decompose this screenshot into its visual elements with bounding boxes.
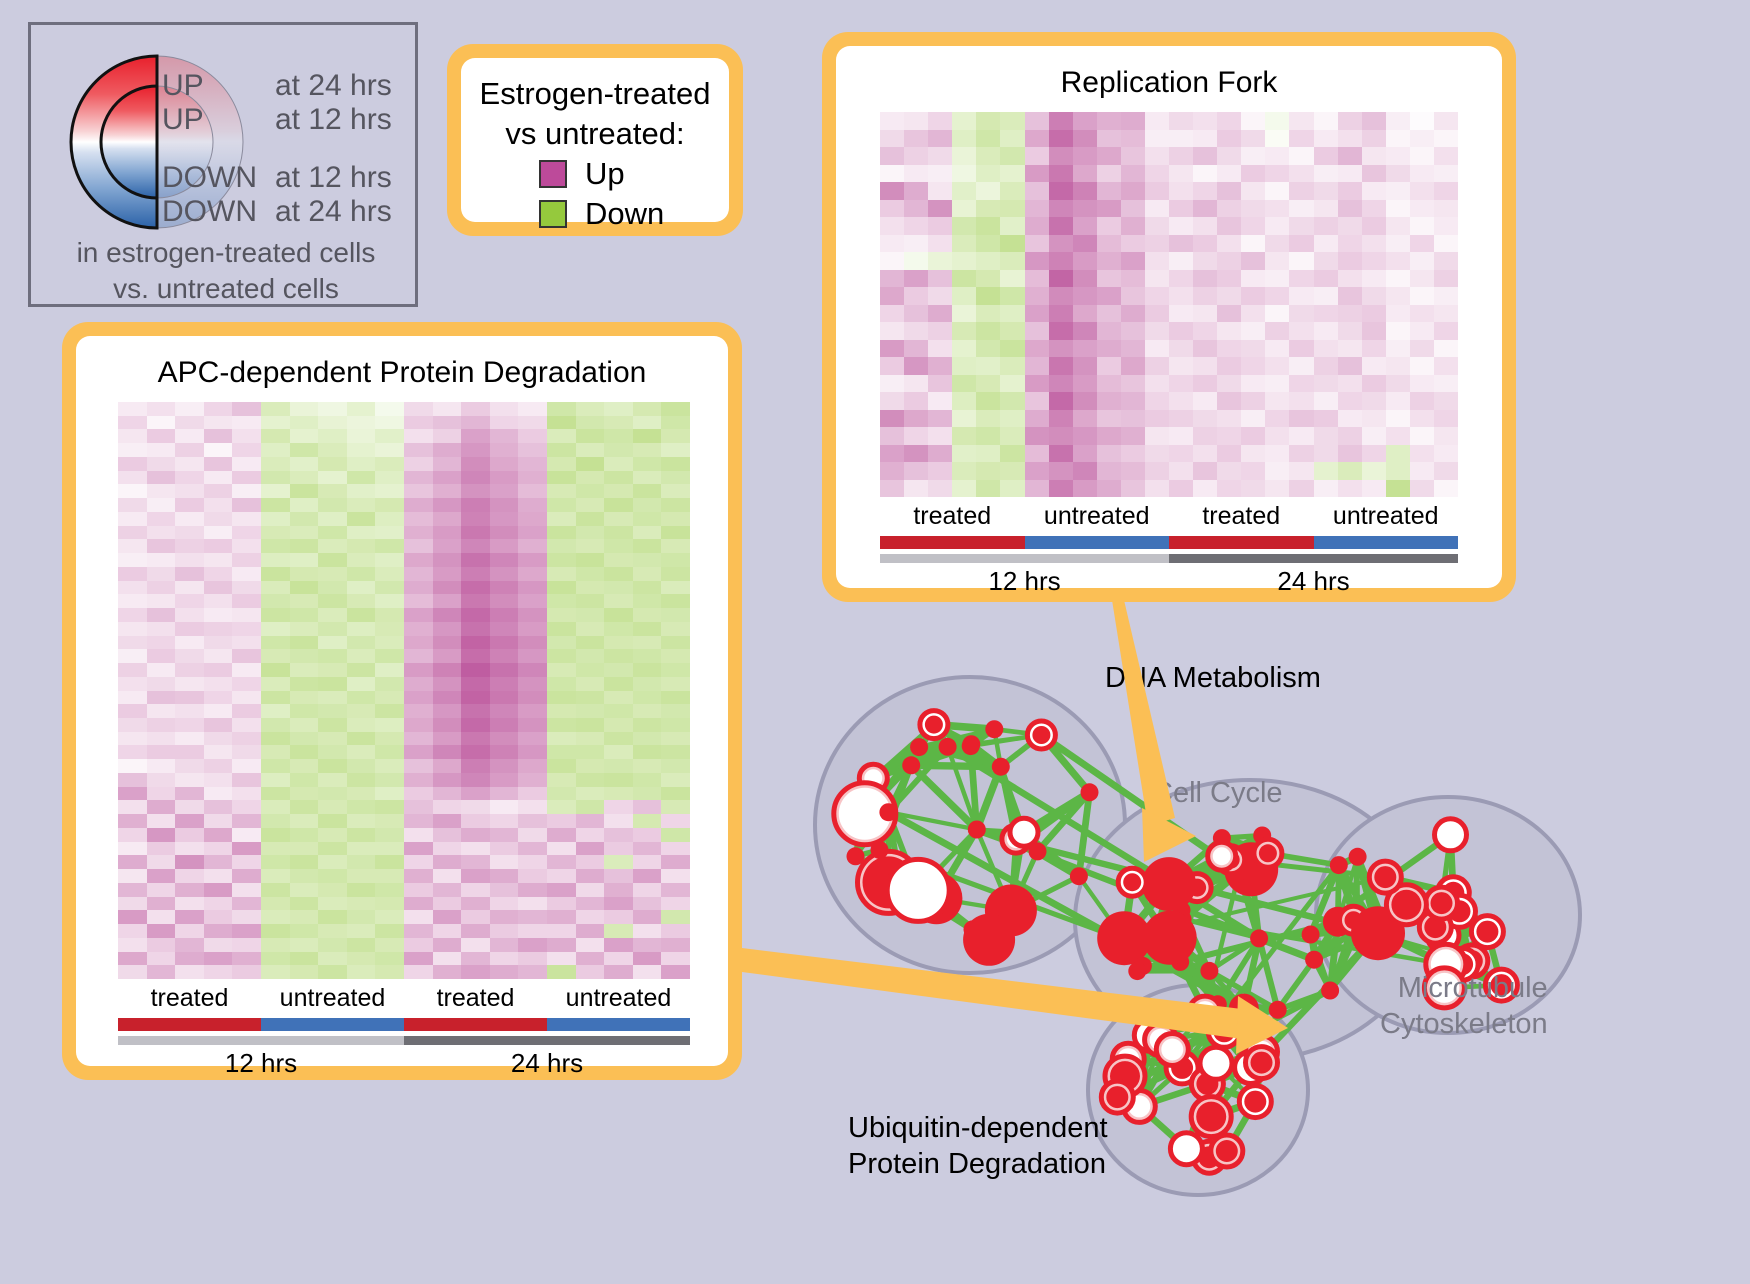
heatmap-cell [576,553,605,567]
network-node[interactable] [1250,929,1268,947]
heatmap-cell [204,897,233,911]
heatmap-cell [490,498,519,512]
heatmap-cell [928,322,952,340]
heatmap-cell [1314,182,1338,200]
heatmap-cell [433,594,462,608]
network-node[interactable] [847,847,865,865]
network-node[interactable] [1244,1091,1266,1113]
heatmap-cell [375,553,404,567]
heatmap-cell [547,553,576,567]
heatmap-cell [661,732,690,746]
heatmap-cell [490,471,519,485]
heatmap-cell [604,745,633,759]
heatmap-cell [1169,217,1193,235]
heatmap-cell [204,855,233,869]
heatmap-cell [375,910,404,924]
heatmap-cell [375,704,404,718]
heatmap-cell [490,897,519,911]
heatmap-cell [633,429,662,443]
heatmap-cell [461,567,490,581]
heatmap-cell [547,594,576,608]
heatmap-cell [928,165,952,183]
heatmap-cell [1049,410,1073,428]
heatmap-cell [175,526,204,540]
heatmap-cell [118,924,147,938]
heatmap-cell [547,539,576,553]
heatmap-cell [1434,392,1458,410]
heatmap-cell [661,855,690,869]
heatmap-cell [518,636,547,650]
heatmap-cell [880,182,904,200]
heatmap-cell [1386,287,1410,305]
heatmap-cell [1289,112,1313,130]
heatmap-cell [1169,480,1193,498]
network-node[interactable] [1440,824,1462,846]
heatmap-cell [404,938,433,952]
heatmap-cell [175,663,204,677]
heatmap-cell [1410,270,1434,288]
heatmap-cell [1362,270,1386,288]
heatmap-cell [347,512,376,526]
heatmap-cell [290,581,319,595]
network-node[interactable] [992,758,1010,776]
heatmap-cell [1289,235,1313,253]
heatmap-cell [347,704,376,718]
replication-fork-condition-labels: treateduntreatedtreateduntreated [880,502,1458,534]
heatmap-cell [518,429,547,443]
condition-color-bar-segment [261,1018,404,1031]
network-node[interactable] [1269,1001,1287,1019]
network-node[interactable] [1205,1052,1227,1074]
heatmap-cell [633,594,662,608]
heatmap-cell [404,526,433,540]
heatmap-cell [461,663,490,677]
heatmap-cell [1265,305,1289,323]
heatmap-cell [490,910,519,924]
network-node[interactable] [968,821,986,839]
heatmap-cell [1217,445,1241,463]
heatmap-cell [1265,462,1289,480]
network-node[interactable] [1128,962,1146,980]
network-node[interactable] [985,720,1003,738]
heatmap-cell [1000,322,1024,340]
heatmap-cell [118,663,147,677]
heatmap-cell [204,498,233,512]
heatmap-cell [147,471,176,485]
heatmap-cell [461,924,490,938]
heatmap-cell [661,636,690,650]
heatmap-cell [952,427,976,445]
heatmap-cell [1121,480,1145,498]
heatmap-cell [1217,392,1241,410]
heatmap-cell [118,649,147,663]
network-node[interactable] [1349,848,1367,866]
heatmap-cell [976,147,1000,165]
network-node[interactable] [962,737,980,755]
heatmap-cell [633,952,662,966]
heatmap-cell [1025,462,1049,480]
network-node[interactable] [925,716,943,734]
heatmap-cell [1169,305,1193,323]
network-node[interactable] [910,738,928,756]
heatmap-cell [633,457,662,471]
heatmap-cell [604,814,633,828]
network-node[interactable] [1175,1138,1197,1160]
heatmap-cell [604,938,633,952]
heatmap-cell [1000,252,1024,270]
heatmap-cell [1338,462,1362,480]
heatmap-cell [433,745,462,759]
heatmap-cell [175,567,204,581]
updown-legend-title-line2: vs untreated: [461,114,729,154]
heatmap-cell [290,828,319,842]
heatmap-cell [928,270,952,288]
heatmap-cell [433,498,462,512]
heatmap-cell [1265,340,1289,358]
network-node[interactable] [939,738,957,756]
heatmap-cell [490,594,519,608]
network-node[interactable] [1213,1020,1235,1042]
heatmap-cell [290,539,319,553]
heatmap-cell [576,581,605,595]
heatmap-cell [290,608,319,622]
heatmap-cell [490,883,519,897]
heatmap-cell [290,759,319,773]
heatmap-cell [604,594,633,608]
heatmap-cell [433,800,462,814]
heatmap-cell [461,512,490,526]
network-node[interactable] [1321,982,1339,1000]
heatmap-cell [1121,270,1145,288]
network-node[interactable] [1196,1102,1226,1132]
network-node[interactable] [1015,823,1033,841]
heatmap-cell [928,305,952,323]
condition-color-bar-segment [547,1018,690,1031]
heatmap-cell [952,340,976,358]
heatmap-cell [904,130,928,148]
heatmap-cell [547,691,576,705]
heatmap-cell [118,759,147,773]
heatmap-cell [1265,445,1289,463]
network-node[interactable] [892,864,944,916]
heatmap-cell [118,608,147,622]
heatmap-cell [461,594,490,608]
heatmap-cell [147,869,176,883]
heatmap-cell [261,938,290,952]
heatmap-cell [375,539,404,553]
heatmap-cell [232,828,261,842]
heatmap-cell [461,773,490,787]
heatmap-cell [433,924,462,938]
heatmap-cell [1265,112,1289,130]
heatmap-cell [576,814,605,828]
heatmap-cell [1097,480,1121,498]
heatmap-cell [976,445,1000,463]
heatmap-cell [1049,340,1073,358]
network-node[interactable] [963,914,1015,966]
heatmap-cell [261,677,290,691]
heatmap-cell [976,252,1000,270]
heatmap-cell [318,883,347,897]
heatmap-cell [175,512,204,526]
heatmap-cell [1193,112,1217,130]
heatmap-cell [518,622,547,636]
heatmap-cell [518,897,547,911]
heatmap-cell [347,526,376,540]
heatmap-cell [1217,357,1241,375]
heatmap-cell [1217,200,1241,218]
heatmap-cell [1145,235,1169,253]
heatmap-cell [1386,480,1410,498]
heatmap-cell [1289,427,1313,445]
colorwheel-graphic: UP UP DOWN DOWN at 24 hrs at 12 hrs at 1… [67,51,247,233]
heatmap-cell [633,443,662,457]
heatmap-cell [490,608,519,622]
heatmap-cell [518,773,547,787]
heatmap-cell [633,649,662,663]
heatmap-cell [347,814,376,828]
heatmap-cell [1025,130,1049,148]
heatmap-cell [433,484,462,498]
heatmap-cell [1025,322,1049,340]
network-node[interactable] [1032,726,1050,744]
heatmap-cell [347,718,376,732]
network-node[interactable] [871,841,889,859]
network-node[interactable] [1391,890,1421,920]
network-node[interactable] [1142,857,1196,911]
heatmap-cell [633,636,662,650]
network-node[interactable] [1374,866,1396,888]
heatmap-cell [375,732,404,746]
heatmap-cell [118,512,147,526]
heatmap-cell [547,498,576,512]
heatmap-cell [1121,427,1145,445]
heatmap-cell [547,965,576,979]
heatmap-cell [318,512,347,526]
heatmap-cell [290,553,319,567]
heatmap-cell [318,663,347,677]
heatmap-cell [1169,410,1193,428]
heatmap-cell [461,787,490,801]
heatmap-cell [661,842,690,856]
heatmap-cell [1410,287,1434,305]
network-node[interactable] [1200,962,1218,980]
heatmap-cell [547,416,576,430]
heatmap-cell [433,910,462,924]
heatmap-cell [518,800,547,814]
heatmap-cell [375,800,404,814]
legend-item-down: Down [539,194,664,234]
down-swatch-icon [539,200,567,228]
network-node[interactable] [1476,921,1498,943]
heatmap-cell [433,965,462,979]
network-node[interactable] [1216,1140,1238,1162]
heatmap-cell [290,732,319,746]
heatmap-cell [261,842,290,856]
network-node[interactable] [1302,926,1320,944]
heatmap-cell [1073,427,1097,445]
heatmap-cell [232,567,261,581]
heatmap-cell [147,704,176,718]
network-node[interactable] [879,803,897,821]
heatmap-cell [490,814,519,828]
heatmap-cell [1025,147,1049,165]
heatmap-cell [204,539,233,553]
heatmap-cell [1314,287,1338,305]
heatmap-cell [375,828,404,842]
heatmap-cell [633,512,662,526]
heatmap-cell [118,855,147,869]
network-node[interactable] [902,756,920,774]
heatmap-cell [175,855,204,869]
heatmap-cell [1121,322,1145,340]
heatmap-cell [1073,357,1097,375]
heatmap-cell [318,649,347,663]
heatmap-cell [1121,305,1145,323]
heatmap-cell [547,622,576,636]
heatmap-cell [576,402,605,416]
heatmap-cell [232,759,261,773]
heatmap-cell [576,443,605,457]
heatmap-cell [1000,130,1024,148]
heatmap-cell [904,165,928,183]
heatmap-cell [518,965,547,979]
heatmap-cell [1000,375,1024,393]
heatmap-cell [1434,462,1458,480]
heatmap-cell [1025,287,1049,305]
heatmap-cell [904,270,928,288]
heatmap-cell [461,429,490,443]
heatmap-cell [347,471,376,485]
heatmap-cell [404,402,433,416]
heatmap-cell [1049,375,1073,393]
heatmap-cell [1169,235,1193,253]
heatmap-cell [1169,252,1193,270]
heatmap-cell [1289,340,1313,358]
heatmap-cell [952,182,976,200]
heatmap-cell [290,636,319,650]
heatmap-cell [461,828,490,842]
heatmap-cell [1217,287,1241,305]
heatmap-cell [461,416,490,430]
heatmap-cell [1410,427,1434,445]
heatmap-cell [1314,252,1338,270]
heatmap-cell [633,787,662,801]
up-swatch-icon [539,160,567,188]
heatmap-cell [1386,112,1410,130]
heatmap-cell [1169,165,1193,183]
heatmap-cell [1314,165,1338,183]
heatmap-cell [204,842,233,856]
heatmap-cell [175,471,204,485]
heatmap-cell [347,622,376,636]
network-node[interactable] [1081,783,1099,801]
heatmap-cell [118,484,147,498]
network-node[interactable] [1161,1039,1183,1061]
heatmap-cell [1073,445,1097,463]
heatmap-cell [1289,130,1313,148]
heatmap-cell [1049,462,1073,480]
network-node[interactable] [1106,1086,1128,1108]
heatmap-cell [633,471,662,485]
apc-degradation-heatmap [118,402,690,979]
heatmap-cell [232,608,261,622]
heatmap-cell [375,608,404,622]
heatmap-cell [1410,165,1434,183]
condition-label: treated [118,984,261,1016]
heatmap-cell [1434,200,1458,218]
network-node[interactable] [1305,951,1323,969]
heatmap-cell [1073,462,1097,480]
heatmap-cell [147,814,176,828]
heatmap-cell [976,270,1000,288]
network-node[interactable] [1251,1052,1273,1074]
heatmap-cell [290,484,319,498]
heatmap-cell [1410,217,1434,235]
heatmap-cell [404,539,433,553]
heatmap-cell [290,677,319,691]
heatmap-cell [1265,322,1289,340]
heatmap-cell [1241,375,1265,393]
heatmap-cell [1265,182,1289,200]
network-node[interactable] [1123,873,1141,891]
heatmap-cell [1362,200,1386,218]
heatmap-cell [1025,112,1049,130]
heatmap-cell [576,787,605,801]
heatmap-cell [490,457,519,471]
heatmap-cell [347,649,376,663]
heatmap-cell [604,457,633,471]
heatmap-cell [318,952,347,966]
heatmap-cell [204,443,233,457]
heatmap-cell [290,883,319,897]
network-node[interactable] [1330,856,1348,874]
heatmap-cell [1386,340,1410,358]
heatmap-cell [547,443,576,457]
heatmap-cell [1145,200,1169,218]
network-node[interactable] [1259,844,1277,862]
heatmap-cell [1217,462,1241,480]
heatmap-cell [1386,462,1410,480]
heatmap-cell [1338,270,1362,288]
heatmap-cell [1314,392,1338,410]
heatmap-cell [547,800,576,814]
heatmap-cell [347,416,376,430]
heatmap-cell [1289,480,1313,498]
heatmap-cell [633,745,662,759]
replication-fork-time-bar [880,554,1458,563]
heatmap-cell [1097,252,1121,270]
heatmap-cell [1217,147,1241,165]
heatmap-cell [1217,340,1241,358]
heatmap-cell [576,869,605,883]
heatmap-cell [1097,445,1121,463]
heatmap-cell [1434,252,1458,270]
network-node[interactable] [1213,847,1231,865]
heatmap-cell [1000,200,1024,218]
heatmap-cell [261,581,290,595]
network-node[interactable] [1070,867,1088,885]
heatmap-cell [175,457,204,471]
heatmap-cell [952,112,976,130]
heatmap-cell [490,759,519,773]
heatmap-cell [1217,235,1241,253]
network-node[interactable] [1431,892,1453,914]
heatmap-cell [661,883,690,897]
heatmap-cell [490,732,519,746]
heatmap-cell [1193,165,1217,183]
heatmap-cell [232,663,261,677]
